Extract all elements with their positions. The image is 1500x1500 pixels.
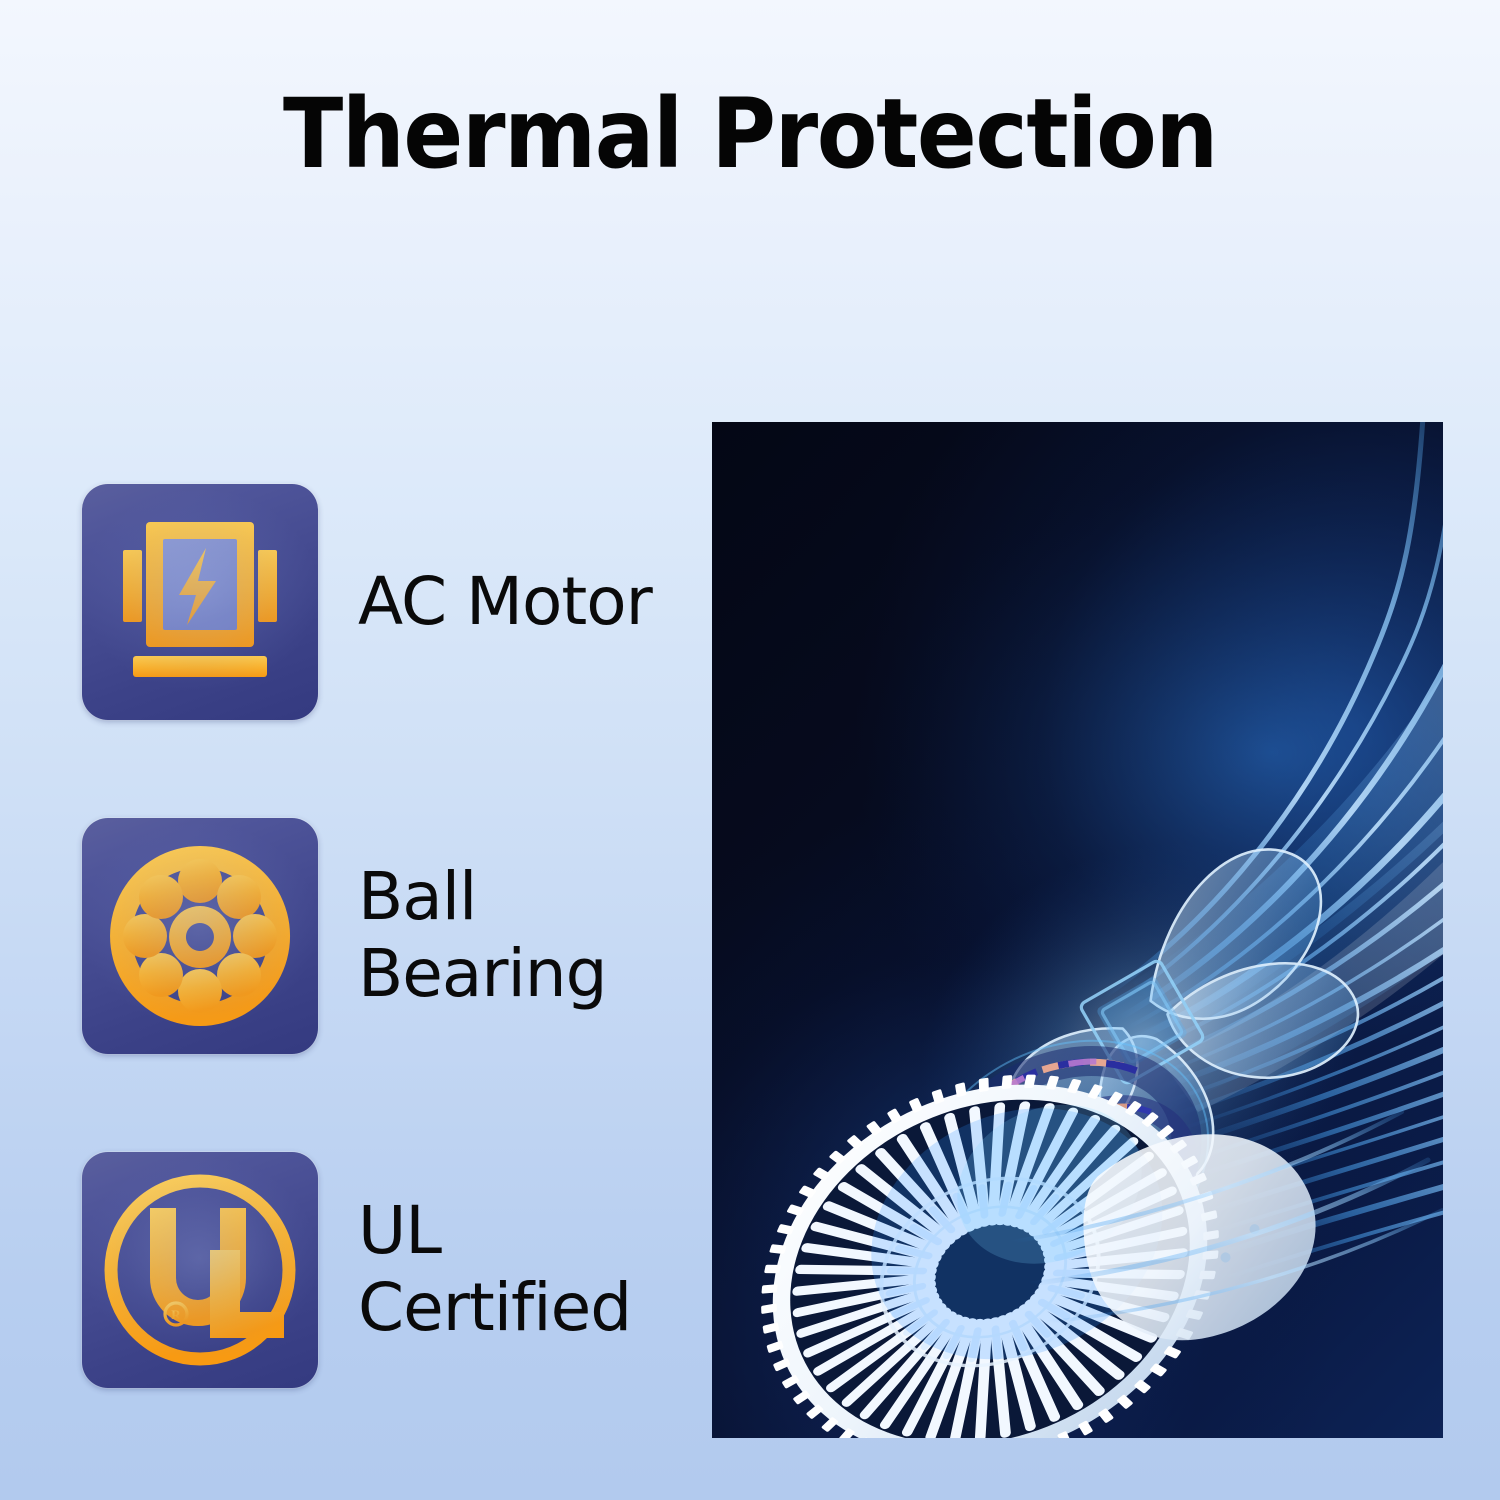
feature-label-ac-motor: AC Motor bbox=[358, 564, 652, 641]
ul-certified-icon: R bbox=[82, 1152, 318, 1388]
ul-certified-icon-tile: R bbox=[82, 1152, 318, 1388]
page-title: Thermal Protection bbox=[60, 86, 1440, 182]
feature-item-ball-bearing: Ball Bearing bbox=[82, 818, 682, 1054]
registered-symbol-glyph: R bbox=[171, 1307, 181, 1322]
feature-label-ball-bearing: Ball Bearing bbox=[358, 859, 607, 1012]
feature-item-ac-motor: AC Motor bbox=[82, 484, 682, 720]
ac-motor-icon bbox=[82, 484, 318, 720]
fan-motor-airflow-visual bbox=[712, 422, 1443, 1438]
ball-bearing-icon-tile bbox=[82, 818, 318, 1054]
ball-bearing-icon bbox=[82, 818, 318, 1054]
feature-list: AC Motor bbox=[82, 484, 682, 1388]
product-image-panel bbox=[712, 422, 1443, 1438]
ac-motor-icon-tile bbox=[82, 484, 318, 720]
feature-label-ul-certified: UL Certified bbox=[358, 1193, 631, 1346]
feature-item-ul-certified: R UL Certified bbox=[82, 1152, 682, 1388]
product-feature-graphic: Thermal Protection bbox=[0, 0, 1500, 1500]
